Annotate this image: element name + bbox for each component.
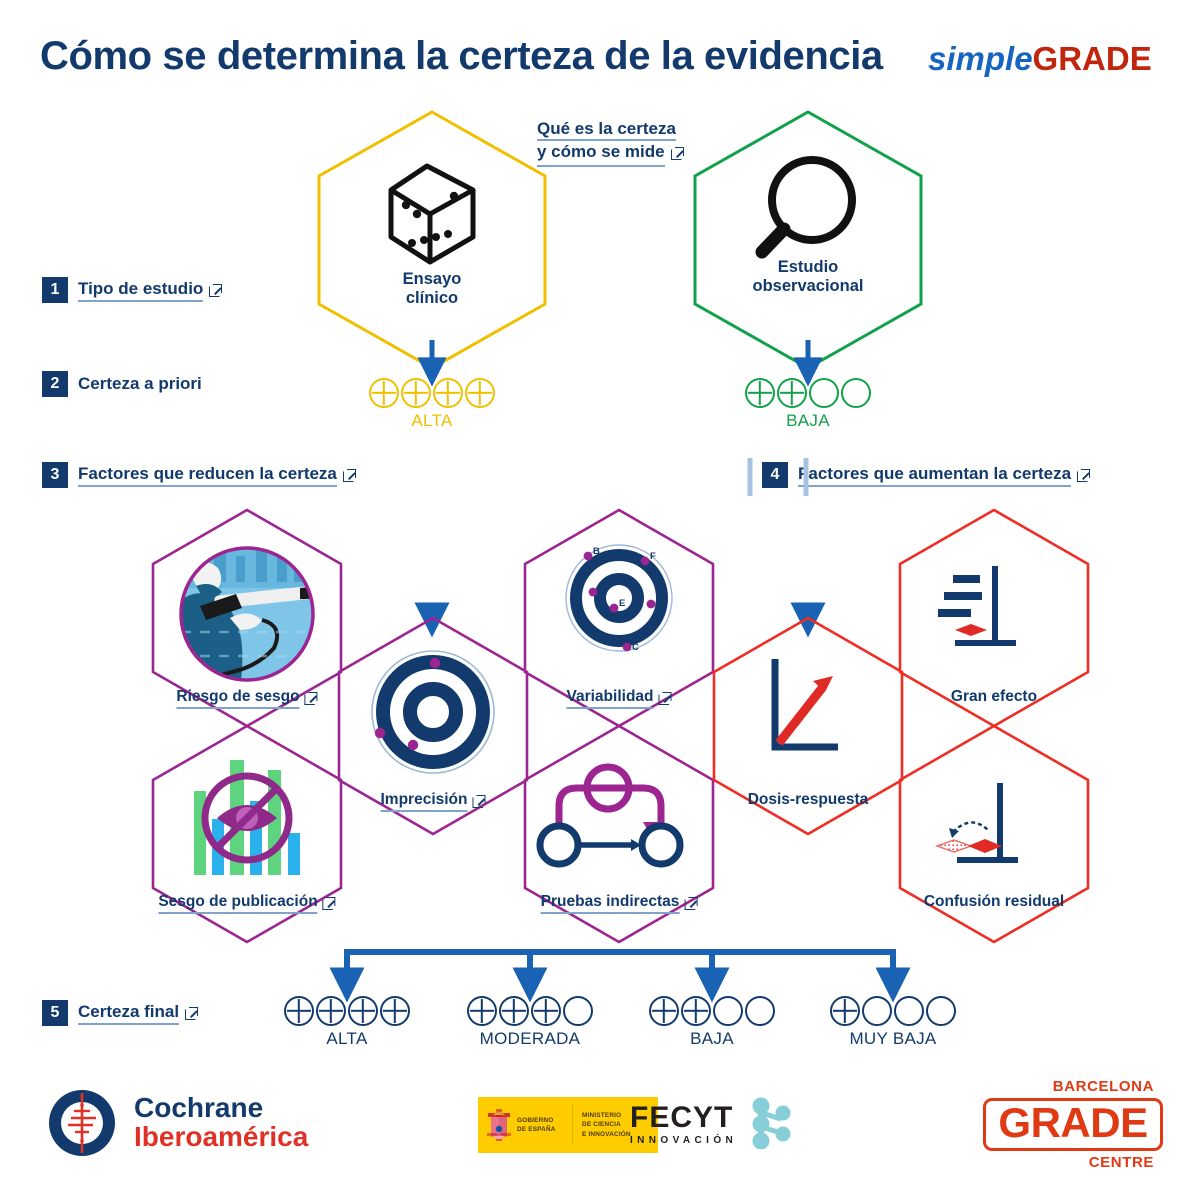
circle-empty: [745, 996, 775, 1026]
prior-certainty-alta: ALTA: [366, 378, 498, 431]
circle-filled: [649, 996, 679, 1026]
hexlabel-text: Variabilidad: [566, 688, 653, 709]
bgc-grade-text: GRADE: [983, 1098, 1162, 1151]
external-link-icon[interactable]: [305, 692, 318, 705]
gobierno-text: GOBIERNO DE ESPAÑA: [517, 1116, 556, 1134]
final-certainty-moderada: MODERADA: [464, 996, 596, 1049]
external-link-icon[interactable]: [684, 897, 697, 910]
hexlabel-text: Gran efecto: [951, 688, 1037, 706]
certainty-caption: BAJA: [786, 411, 830, 431]
fecyt-wordmark: FECYT: [630, 1101, 737, 1135]
escudo-espana-icon: [486, 1107, 512, 1143]
hexlabel-variabilidad[interactable]: Variabilidad: [566, 688, 671, 709]
circle-filled: [348, 996, 378, 1026]
circle-empty: [713, 996, 743, 1026]
circle-filled: [830, 996, 860, 1026]
bgc-bottom-text: CENTRE: [988, 1154, 1158, 1171]
infographic-canvas: Cómo se determina la certeza de la evide…: [0, 0, 1200, 1200]
circle-filled: [284, 996, 314, 1026]
circle-empty: [894, 996, 924, 1026]
hexlabel-dosis-respuesta: Dosis-respuesta: [748, 791, 869, 809]
circle-filled: [467, 996, 497, 1026]
indirect-path-icon: [540, 767, 680, 864]
hexlabel-text: Pruebas indirectas: [541, 893, 680, 914]
external-link-icon[interactable]: [659, 692, 672, 705]
final-certainty-baja: BAJA: [646, 996, 778, 1049]
hex-label-estudio-observacional: Estudio observacional: [718, 258, 898, 297]
forest-plot-diamond-icon: [938, 566, 1016, 643]
certainty-caption: ALTA: [326, 1029, 367, 1049]
circle-filled: [316, 996, 346, 1026]
cochrane-wordmark-line2: Iberoamérica: [134, 1123, 308, 1152]
hex-label-ensayo-clinico: Ensayo clínico: [352, 270, 512, 309]
ministerio-text: MINISTERIO DE CIENCIA E INNOVACIÓN: [573, 1111, 631, 1138]
variability-label-a: A: [598, 582, 605, 593]
fecyt-tagline: INNOVACIÓN: [630, 1135, 737, 1146]
fecyt-dots-icon: [747, 1097, 803, 1149]
min-line3: E INNOVACIÓN: [582, 1130, 631, 1139]
final-certainty-alta: ALTA: [281, 996, 413, 1049]
label-line2: observacional: [718, 277, 898, 296]
variability-label-e: E: [619, 598, 625, 609]
circle-filled: [777, 378, 807, 408]
certainty-circles: [369, 378, 495, 408]
gob-line1: GOBIERNO: [517, 1116, 556, 1125]
certainty-circles: [467, 996, 593, 1026]
final-certainty-muy-baja: MUY BAJA: [827, 996, 959, 1049]
min-line2: DE CIENCIA: [582, 1120, 631, 1129]
gob-line2: DE ESPAÑA: [517, 1125, 556, 1134]
hexlabel-gran-efecto: Gran efecto: [951, 688, 1037, 706]
certainty-caption: ALTA: [411, 411, 452, 431]
circle-filled: [401, 378, 431, 408]
cochrane-iberoamerica-logo: Cochrane Iberoamérica: [44, 1085, 308, 1161]
variability-label-d: D: [656, 599, 663, 610]
circle-filled: [681, 996, 711, 1026]
certainty-circles: [284, 996, 410, 1026]
circle-filled: [499, 996, 529, 1026]
circle-filled: [380, 996, 410, 1026]
variability-label-c: C: [632, 642, 639, 653]
circle-filled: [433, 378, 463, 408]
hexlabel-sesgo-de-publicacion[interactable]: Sesgo de publicación: [158, 893, 335, 914]
hexlabel-riesgo-de-sesgo[interactable]: Riesgo de sesgo: [176, 688, 317, 709]
magnifier-icon: [762, 160, 852, 252]
circle-filled: [531, 996, 561, 1026]
circle-filled: [745, 378, 775, 408]
shifted-diamond-icon: [937, 783, 1018, 860]
fecyt-logo: FECYT INNOVACIÓN: [630, 1097, 803, 1149]
rising-arrow-chart-icon: [775, 659, 838, 747]
dice-icon: [391, 166, 473, 262]
hexlabel-text: Confusión residual: [924, 893, 1064, 911]
hexlabel-pruebas-indirectas[interactable]: Pruebas indirectas: [541, 893, 698, 914]
hexlabel-text: Imprecisión: [381, 791, 468, 812]
circle-empty: [841, 378, 871, 408]
cochrane-wordmark-line1: Cochrane: [134, 1094, 308, 1123]
cochrane-mark-icon: [44, 1085, 120, 1161]
label-line2: clínico: [352, 289, 512, 308]
external-link-icon[interactable]: [323, 897, 336, 910]
hexlabel-text: Sesgo de publicación: [158, 893, 317, 914]
hexlabel-confusion-residual: Confusión residual: [924, 893, 1064, 911]
min-line1: MINISTERIO: [582, 1111, 631, 1120]
hexlabel-imprecision[interactable]: Imprecisión: [381, 791, 486, 812]
variability-label-f: F: [650, 551, 656, 562]
hexlabel-text: Dosis-respuesta: [748, 791, 869, 809]
hexlabel-text: Riesgo de sesgo: [176, 688, 299, 709]
bars-hidden-eye-icon: [194, 760, 300, 875]
certainty-caption: MUY BAJA: [849, 1029, 936, 1049]
barcelona-grade-centre-logo: BARCELONA GRADE CENTRE: [988, 1078, 1158, 1171]
variability-label-b: B: [593, 546, 600, 557]
label-line1: Ensayo: [352, 270, 512, 289]
target-labeled-dots-icon: A B C D E F: [566, 545, 672, 653]
certainty-circles: [745, 378, 871, 408]
circle-empty: [926, 996, 956, 1026]
circle-empty: [809, 378, 839, 408]
certainty-caption: BAJA: [690, 1029, 734, 1049]
target-scatter-icon: [372, 651, 494, 773]
circle-empty: [862, 996, 892, 1026]
sniper-target-photo-icon: [181, 546, 326, 694]
prior-certainty-baja: BAJA: [742, 378, 874, 431]
circle-filled: [369, 378, 399, 408]
certainty-circles: [830, 996, 956, 1026]
circle-filled: [465, 378, 495, 408]
certainty-caption: MODERADA: [480, 1029, 581, 1049]
external-link-icon[interactable]: [473, 795, 486, 808]
bgc-top-text: BARCELONA: [988, 1078, 1158, 1095]
label-line1: Estudio: [718, 258, 898, 277]
diagram-vector-layer: A B C D E F: [0, 0, 1200, 1200]
circle-empty: [563, 996, 593, 1026]
certainty-circles: [649, 996, 775, 1026]
